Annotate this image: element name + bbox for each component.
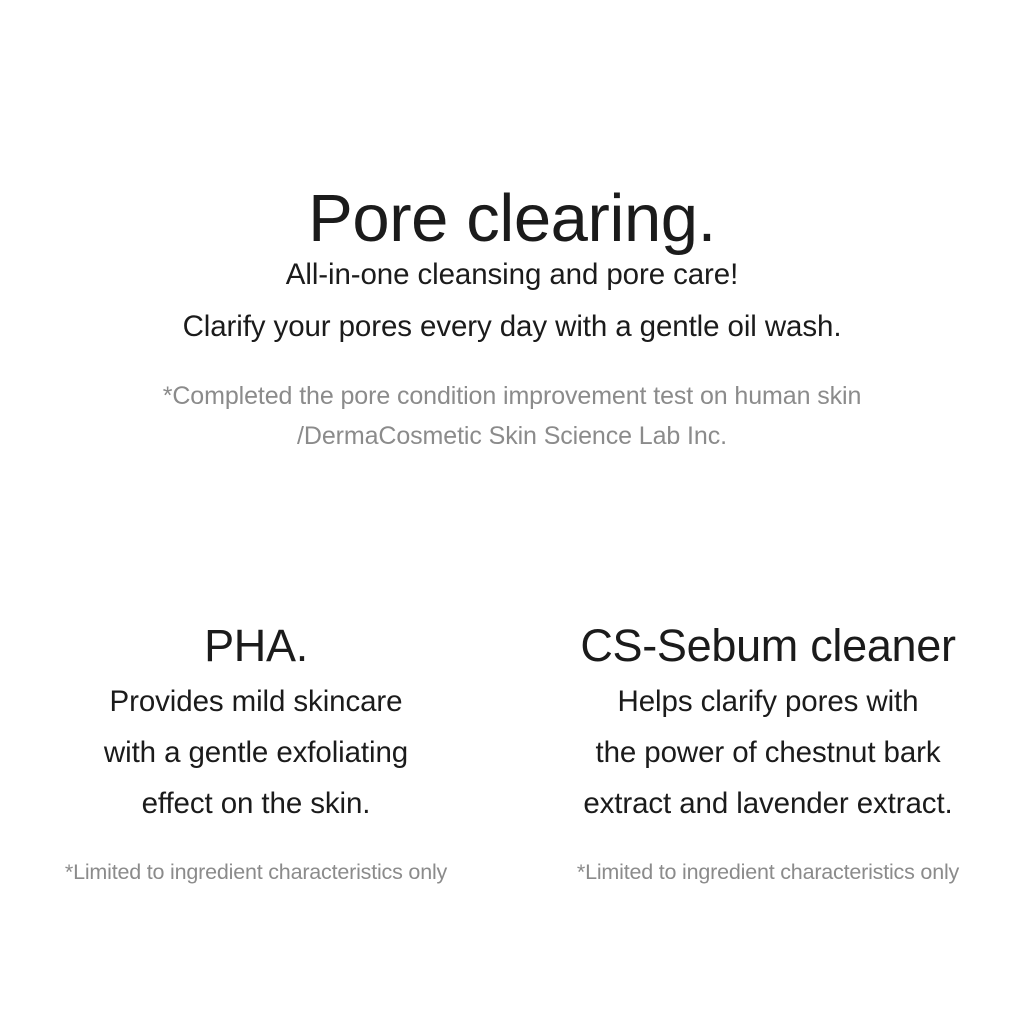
product-detail-page: Pore clearing. All-in-one cleansing and … xyxy=(0,0,1024,1024)
ingredient-description-pha-line-3: effect on the skin. xyxy=(0,778,512,829)
ingredient-description-pha-line-2: with a gentle exfoliating xyxy=(0,727,512,778)
ingredient-title-pha: PHA. xyxy=(0,617,512,675)
ingredient-description-pha-line-1: Provides mild skincare xyxy=(0,676,512,727)
ingredient-description-cs-sebum-cleaner: Helps clarify pores with the power of ch… xyxy=(512,676,1024,829)
ingredient-description-pha: Provides mild skincare with a gentle exf… xyxy=(0,676,512,829)
ingredient-description-cs-sebum-cleaner-line-2: the power of chestnut bark xyxy=(512,727,1024,778)
ingredient-columns: PHA. Provides mild skincare with a gentl… xyxy=(0,0,1024,1024)
ingredient-title-cs-sebum-cleaner: CS-Sebum cleaner xyxy=(512,617,1024,675)
ingredient-description-cs-sebum-cleaner-line-1: Helps clarify pores with xyxy=(512,676,1024,727)
ingredient-column-cs-sebum-cleaner: CS-Sebum cleaner Helps clarify pores wit… xyxy=(512,0,1024,1024)
ingredient-footnote-pha: *Limited to ingredient characteristics o… xyxy=(0,857,512,887)
ingredient-column-pha: PHA. Provides mild skincare with a gentl… xyxy=(0,0,512,1024)
ingredient-description-cs-sebum-cleaner-line-3: extract and lavender extract. xyxy=(512,778,1024,829)
ingredient-footnote-cs-sebum-cleaner: *Limited to ingredient characteristics o… xyxy=(512,857,1024,887)
